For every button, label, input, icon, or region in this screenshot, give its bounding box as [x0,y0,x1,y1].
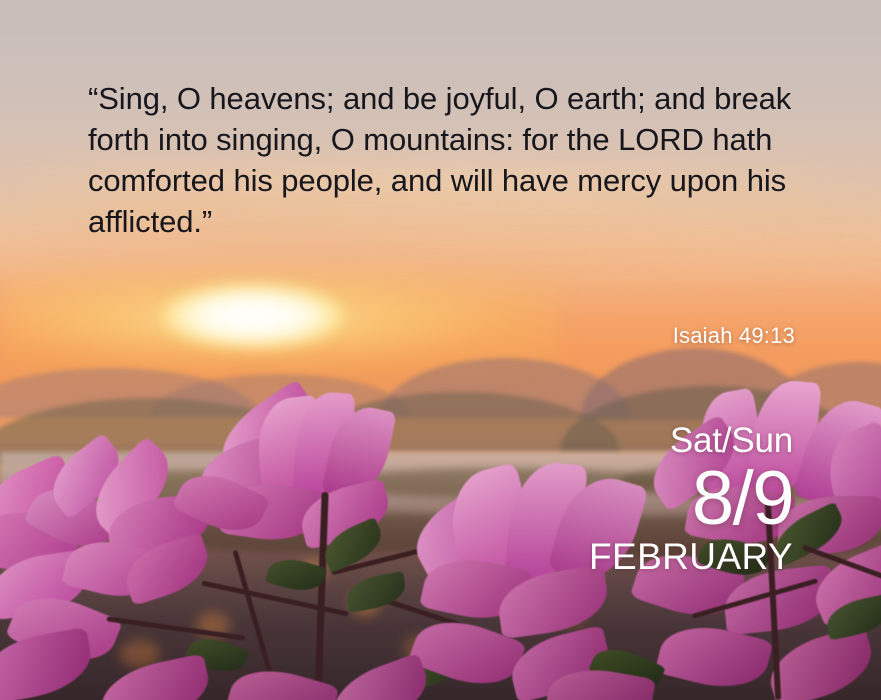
flower-bract [324,653,436,700]
flower-bract [95,653,214,700]
branch [201,580,349,616]
scripture-verse-text: “Sing, O heavens; and be joyful, O earth… [88,78,808,242]
branch [106,616,245,640]
day-number-label: 8/9 [493,460,793,538]
scripture-citation: Isaiah 49:13 [673,322,795,350]
calendar-page: “Sing, O heavens; and be joyful, O earth… [0,0,881,700]
date-block: Sat/Sun 8/9 FEBRUARY [493,420,793,578]
month-label: FEBRUARY [493,536,793,578]
